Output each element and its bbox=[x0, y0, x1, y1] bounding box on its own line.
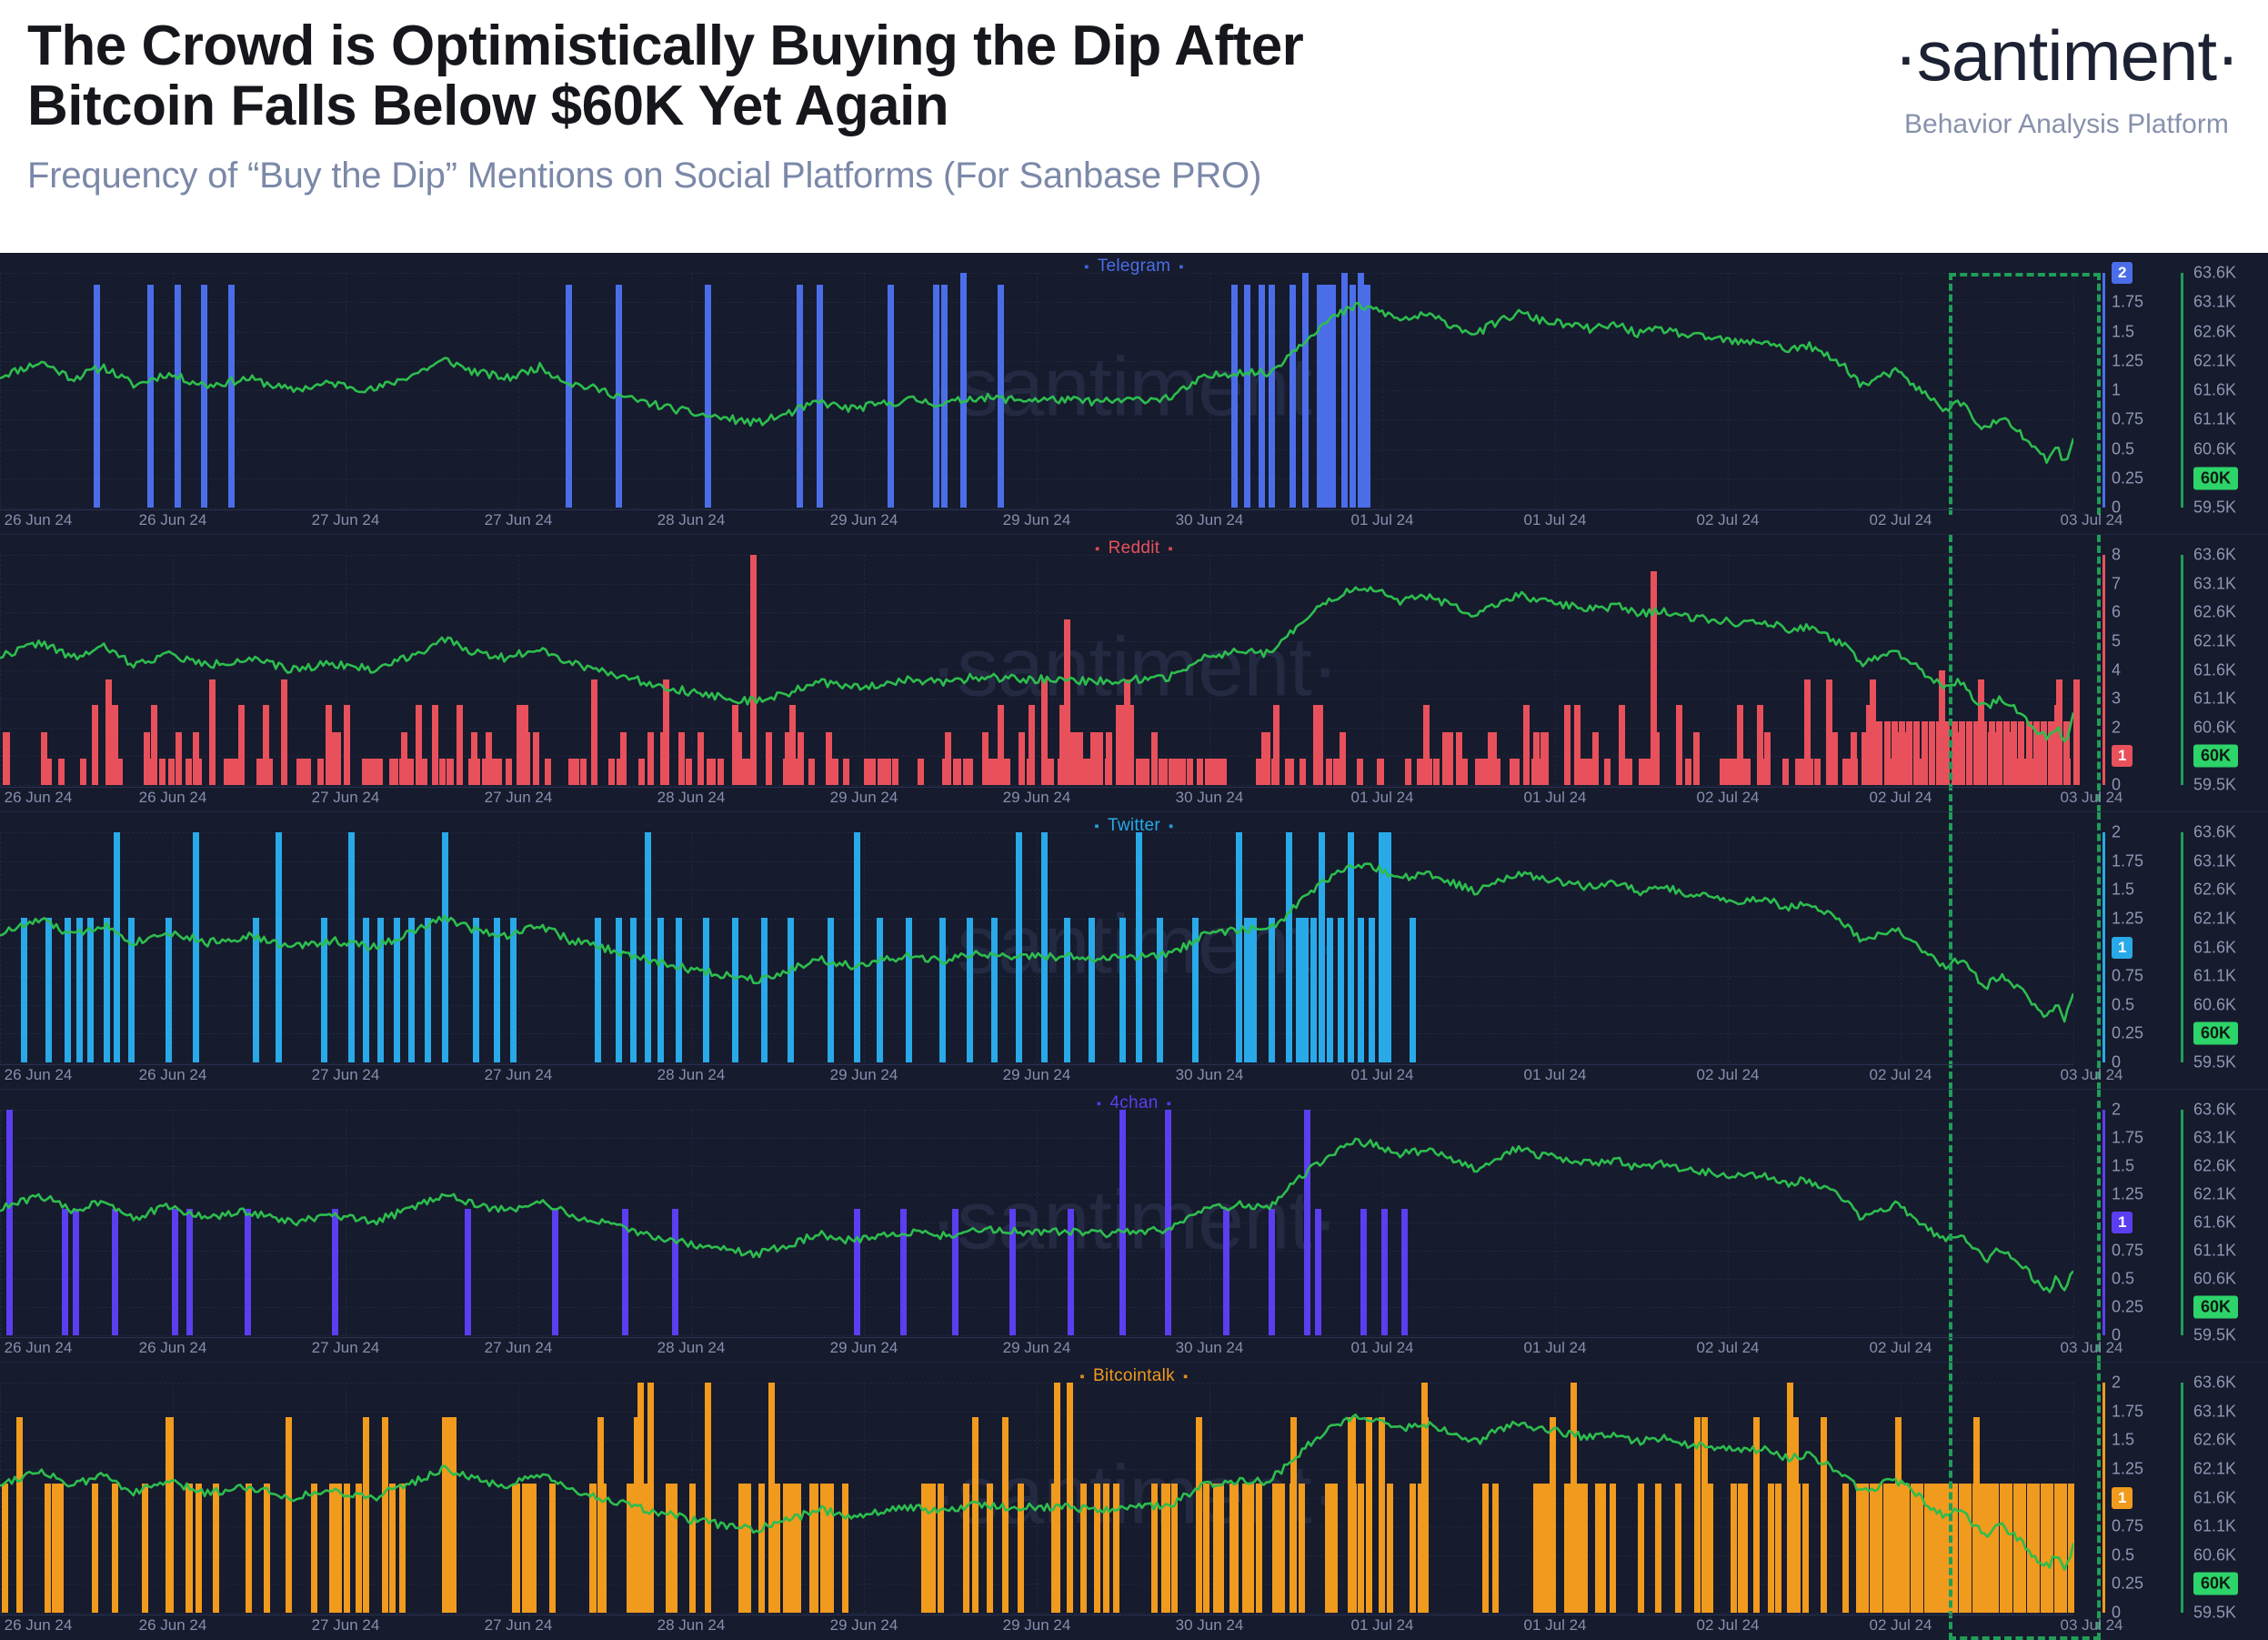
x-axis-tick: 02 Jul 24 bbox=[1697, 789, 1760, 807]
price-axis-tick: 63.6K bbox=[2193, 1101, 2236, 1120]
mentions-axis-tick: 1.5 bbox=[2112, 1431, 2134, 1450]
legend-label: 4chan bbox=[1109, 1093, 1158, 1112]
legend-dot-right-icon: ▪ bbox=[1183, 1369, 1189, 1384]
x-axis-tick: 30 Jun 24 bbox=[1176, 1616, 1244, 1635]
price-axis-tick: 61.1K bbox=[2193, 689, 2236, 709]
price-axis-tick: 61.1K bbox=[2193, 967, 2236, 986]
mentions-axis-tick: 0.25 bbox=[2112, 1024, 2143, 1043]
mentions-axis-tick: 0.5 bbox=[2112, 439, 2134, 458]
x-axis-tick: 28 Jun 24 bbox=[657, 1339, 726, 1357]
page-subtitle: Frequency of “Buy the Dip” Mentions on S… bbox=[27, 156, 2241, 196]
mentions-axis-tick: 8 bbox=[2112, 546, 2121, 565]
plot-area bbox=[0, 832, 2073, 1062]
x-axis-tick: 02 Jul 24 bbox=[1870, 1339, 1932, 1357]
x-axis-tick: 27 Jun 24 bbox=[312, 1616, 380, 1635]
price-axis-tick: 62.6K bbox=[2193, 1431, 2236, 1450]
btc-price-line bbox=[0, 555, 2073, 785]
mentions-axis-tick: 1.75 bbox=[2112, 293, 2143, 312]
x-axis-tick: 28 Jun 24 bbox=[657, 1616, 726, 1635]
mentions-axis-tick: 6 bbox=[2112, 603, 2121, 622]
price-axis-tick: 60.6K bbox=[2193, 1270, 2236, 1289]
x-axis: 26 Jun 2426 Jun 2427 Jun 2427 Jun 2428 J… bbox=[0, 1337, 2073, 1361]
legend-dot-left-icon: ▪ bbox=[1095, 541, 1100, 557]
x-axis-tick: 29 Jun 24 bbox=[830, 1616, 898, 1635]
x-axis-rule bbox=[0, 1337, 2073, 1338]
mentions-axis-tick: 0.5 bbox=[2112, 1545, 2134, 1565]
btc-price-line bbox=[0, 832, 2073, 1062]
x-axis-tick: 01 Jul 24 bbox=[1351, 789, 1414, 807]
legend-label: Twitter bbox=[1108, 816, 1160, 835]
price-axis-line bbox=[2181, 1110, 2183, 1335]
x-axis-rule bbox=[0, 1615, 2073, 1615]
x-axis-tick: 27 Jun 24 bbox=[485, 1616, 553, 1635]
mentions-axis-tick: 2 bbox=[2112, 718, 2121, 737]
x-axis-tick: 01 Jul 24 bbox=[1524, 1339, 1587, 1357]
mentions-axis-tick: 0 bbox=[2112, 1326, 2121, 1345]
x-axis-tick: 30 Jun 24 bbox=[1176, 789, 1244, 807]
legend-label: Bitcointalk bbox=[1093, 1366, 1175, 1385]
x-axis-tick: 02 Jul 24 bbox=[1870, 1066, 1932, 1084]
x-axis-tick: 29 Jun 24 bbox=[830, 1339, 898, 1357]
mentions-axis-tick: 1.75 bbox=[2112, 1129, 2143, 1148]
x-axis-tick: 28 Jun 24 bbox=[657, 789, 726, 807]
btc-price-line bbox=[0, 273, 2073, 508]
x-axis: 26 Jun 2426 Jun 2427 Jun 2427 Jun 2428 J… bbox=[0, 509, 2073, 533]
price-axis-tick: 62.6K bbox=[2193, 1157, 2236, 1176]
x-axis-tick: 26 Jun 24 bbox=[5, 1616, 73, 1635]
price-axis-tick: 63.6K bbox=[2193, 1373, 2236, 1393]
price-axis-tick: 63.6K bbox=[2193, 264, 2236, 283]
price-axis-tick: 62.1K bbox=[2193, 1185, 2236, 1204]
legend-bitcointalk: ▪Bitcointalk▪ bbox=[0, 1366, 2268, 1386]
legend-dot-right-icon: ▪ bbox=[1169, 819, 1174, 834]
mentions-axis-tick: 7 bbox=[2112, 574, 2121, 593]
x-axis-tick: 27 Jun 24 bbox=[485, 1339, 553, 1357]
x-axis-tick: 28 Jun 24 bbox=[657, 511, 726, 529]
x-axis-tick: 26 Jun 24 bbox=[139, 1066, 207, 1084]
mentions-axis-line bbox=[2102, 555, 2105, 785]
mentions-axis-tick: 0.5 bbox=[2112, 1270, 2134, 1289]
price-current-badge: 60K bbox=[2193, 467, 2238, 489]
price-axis-tick: 63.1K bbox=[2193, 851, 2236, 870]
btc-price-line bbox=[0, 1110, 2073, 1335]
x-axis-tick: 27 Jun 24 bbox=[312, 511, 380, 529]
x-axis-tick: 30 Jun 24 bbox=[1176, 1066, 1244, 1084]
chart-panel-reddit: ▪Reddit▪·santiment·01234567863.6K63.1K62… bbox=[0, 535, 2268, 812]
mentions-axis-line bbox=[2102, 1110, 2105, 1335]
x-axis-tick: 29 Jun 24 bbox=[1003, 511, 1071, 529]
x-axis-tick: 27 Jun 24 bbox=[312, 1339, 380, 1357]
price-axis-tick: 63.6K bbox=[2193, 823, 2236, 842]
x-axis-tick: 01 Jul 24 bbox=[1351, 511, 1414, 529]
price-axis-tick: 60.6K bbox=[2193, 718, 2236, 737]
legend-4chan: ▪4chan▪ bbox=[0, 1093, 2268, 1113]
price-axis-tick: 62.6K bbox=[2193, 603, 2236, 622]
brand-tagline: Behavior Analysis Platform bbox=[1894, 109, 2239, 140]
x-axis-tick: 26 Jun 24 bbox=[5, 1339, 73, 1357]
price-axis-tick: 61.6K bbox=[2193, 1488, 2236, 1507]
legend-dot-left-icon: ▪ bbox=[1094, 819, 1099, 834]
legend-dot-right-icon: ▪ bbox=[1179, 259, 1184, 275]
price-axis-tick: 62.1K bbox=[2193, 631, 2236, 650]
price-axis-tick: 59.5K bbox=[2193, 1053, 2236, 1072]
x-axis-tick: 02 Jul 24 bbox=[1870, 511, 1932, 529]
price-current-badge: 60K bbox=[2193, 1573, 2238, 1595]
plot-area bbox=[0, 273, 2073, 508]
x-axis-tick: 29 Jun 24 bbox=[1003, 789, 1071, 807]
header-banner: The Crowd is Optimistically Buying the D… bbox=[0, 0, 2268, 253]
x-axis-tick: 27 Jun 24 bbox=[312, 1066, 380, 1084]
x-axis-tick: 27 Jun 24 bbox=[485, 511, 553, 529]
x-axis-tick: 26 Jun 24 bbox=[139, 1616, 207, 1635]
mentions-axis-line bbox=[2102, 832, 2105, 1062]
plot-area bbox=[0, 1383, 2073, 1613]
legend-dot-right-icon: ▪ bbox=[1168, 541, 1173, 557]
legend-label: Reddit bbox=[1109, 538, 1160, 558]
plot-area bbox=[0, 1110, 2073, 1335]
legend-twitter: ▪Twitter▪ bbox=[0, 816, 2268, 836]
mentions-current-badge: 2 bbox=[2112, 262, 2133, 284]
mentions-axis-tick: 1.75 bbox=[2112, 1402, 2143, 1421]
mentions-axis-tick: 0 bbox=[2112, 1604, 2121, 1623]
price-axis-line bbox=[2181, 273, 2183, 508]
price-axis-tick: 60.6K bbox=[2193, 995, 2236, 1014]
chart-panel-twitter: ▪Twitter▪·santiment·00.250.50.7511.251.5… bbox=[0, 812, 2268, 1090]
price-axis-tick: 61.1K bbox=[2193, 1517, 2236, 1536]
x-axis-tick: 01 Jul 24 bbox=[1351, 1339, 1414, 1357]
btc-price-line bbox=[0, 1383, 2073, 1613]
mentions-axis-tick: 0.75 bbox=[2112, 1242, 2143, 1261]
legend-dot-left-icon: ▪ bbox=[1084, 259, 1089, 275]
x-axis-tick: 02 Jul 24 bbox=[1697, 1616, 1760, 1635]
mentions-axis-tick: 0.75 bbox=[2112, 967, 2143, 986]
x-axis-rule bbox=[0, 509, 2073, 510]
mentions-axis-tick: 1.5 bbox=[2112, 1157, 2134, 1176]
mentions-axis-line bbox=[2102, 273, 2105, 508]
x-axis: 26 Jun 2426 Jun 2427 Jun 2427 Jun 2428 J… bbox=[0, 787, 2073, 810]
price-axis-tick: 62.1K bbox=[2193, 351, 2236, 370]
chart-panel-bitcointalk: ▪Bitcointalk▪·santiment·00.250.50.7511.2… bbox=[0, 1363, 2268, 1640]
mentions-axis-tick: 0 bbox=[2112, 498, 2121, 518]
mentions-axis-tick: 0 bbox=[2112, 1053, 2121, 1072]
mentions-axis-tick: 4 bbox=[2112, 660, 2121, 679]
x-axis-tick: 27 Jun 24 bbox=[485, 789, 553, 807]
mentions-axis-tick: 1 bbox=[2112, 381, 2121, 400]
mentions-current-badge: 1 bbox=[2112, 1212, 2133, 1233]
x-axis: 26 Jun 2426 Jun 2427 Jun 2427 Jun 2428 J… bbox=[0, 1615, 2073, 1638]
x-axis-tick: 28 Jun 24 bbox=[657, 1066, 726, 1084]
mentions-axis-tick: 2 bbox=[2112, 823, 2121, 842]
mentions-axis-tick: 1.25 bbox=[2112, 351, 2143, 370]
price-axis-tick: 62.1K bbox=[2193, 909, 2236, 928]
price-current-badge: 60K bbox=[2193, 745, 2238, 768]
x-axis-rule bbox=[0, 787, 2073, 788]
price-axis-tick: 63.1K bbox=[2193, 574, 2236, 593]
x-axis-tick: 02 Jul 24 bbox=[1870, 789, 1932, 807]
price-axis-tick: 63.1K bbox=[2193, 293, 2236, 312]
mentions-axis-tick: 2 bbox=[2112, 1373, 2121, 1393]
mentions-axis-tick: 2 bbox=[2112, 1101, 2121, 1120]
mentions-axis-tick: 0.75 bbox=[2112, 1517, 2143, 1536]
price-axis-tick: 61.6K bbox=[2193, 938, 2236, 957]
price-axis-tick: 62.1K bbox=[2193, 1459, 2236, 1478]
x-axis-tick: 02 Jul 24 bbox=[1870, 1616, 1932, 1635]
mentions-current-badge: 1 bbox=[2112, 1487, 2133, 1509]
mentions-axis-tick: 1.25 bbox=[2112, 909, 2143, 928]
mentions-axis-tick: 0.75 bbox=[2112, 410, 2143, 429]
x-axis-tick: 26 Jun 24 bbox=[5, 789, 73, 807]
x-axis-tick: 26 Jun 24 bbox=[139, 1339, 207, 1357]
x-axis-tick: 02 Jul 24 bbox=[1697, 1066, 1760, 1084]
price-axis-tick: 59.5K bbox=[2193, 1326, 2236, 1345]
legend-dot-left-icon: ▪ bbox=[1097, 1096, 1102, 1112]
x-axis-tick: 01 Jul 24 bbox=[1524, 1616, 1587, 1635]
x-axis-tick: 01 Jul 24 bbox=[1351, 1616, 1414, 1635]
price-axis-tick: 63.1K bbox=[2193, 1402, 2236, 1421]
price-axis-tick: 61.6K bbox=[2193, 381, 2236, 400]
price-axis-tick: 62.6K bbox=[2193, 880, 2236, 900]
x-axis-tick: 02 Jul 24 bbox=[1697, 511, 1760, 529]
price-axis-tick: 61.1K bbox=[2193, 1242, 2236, 1261]
legend-telegram: ▪Telegram▪ bbox=[0, 257, 2268, 277]
plot-area bbox=[0, 555, 2073, 785]
price-axis-tick: 61.6K bbox=[2193, 1213, 2236, 1233]
price-axis-tick: 63.6K bbox=[2193, 546, 2236, 565]
x-axis-tick: 26 Jun 24 bbox=[5, 1066, 73, 1084]
price-axis-line bbox=[2181, 555, 2183, 785]
mentions-axis-tick: 3 bbox=[2112, 689, 2121, 709]
x-axis-tick: 26 Jun 24 bbox=[139, 511, 207, 529]
brand-logo: ·santiment· Behavior Analysis Platform bbox=[1894, 20, 2239, 140]
mentions-axis-tick: 1.5 bbox=[2112, 880, 2134, 900]
legend-reddit: ▪Reddit▪ bbox=[0, 538, 2268, 558]
price-axis-tick: 63.1K bbox=[2193, 1129, 2236, 1148]
mentions-axis-tick: 1.75 bbox=[2112, 851, 2143, 870]
x-axis-tick: 29 Jun 24 bbox=[830, 511, 898, 529]
x-axis-tick: 30 Jun 24 bbox=[1176, 511, 1244, 529]
price-axis-tick: 61.6K bbox=[2193, 660, 2236, 679]
mentions-axis-tick: 0.25 bbox=[2112, 1298, 2143, 1317]
x-axis-tick: 29 Jun 24 bbox=[830, 789, 898, 807]
price-axis-tick: 60.6K bbox=[2193, 439, 2236, 458]
x-axis-tick: 26 Jun 24 bbox=[5, 511, 73, 529]
mentions-axis-tick: 0.25 bbox=[2112, 1575, 2143, 1594]
mentions-axis-tick: 1.5 bbox=[2112, 322, 2134, 341]
x-axis-tick: 01 Jul 24 bbox=[1524, 1066, 1587, 1084]
price-axis-tick: 60.6K bbox=[2193, 1545, 2236, 1565]
mentions-axis-tick: 5 bbox=[2112, 631, 2121, 650]
x-axis-tick: 02 Jul 24 bbox=[1697, 1339, 1760, 1357]
x-axis-rule bbox=[0, 1064, 2073, 1065]
price-axis-line bbox=[2181, 832, 2183, 1062]
x-axis-tick: 29 Jun 24 bbox=[1003, 1616, 1071, 1635]
price-axis-tick: 62.6K bbox=[2193, 322, 2236, 341]
mentions-axis-tick: 0 bbox=[2112, 776, 2121, 795]
mentions-current-badge: 1 bbox=[2112, 745, 2133, 767]
x-axis-tick: 01 Jul 24 bbox=[1351, 1066, 1414, 1084]
mentions-axis-tick: 0.25 bbox=[2112, 468, 2143, 488]
x-axis: 26 Jun 2426 Jun 2427 Jun 2427 Jun 2428 J… bbox=[0, 1064, 2073, 1088]
price-axis-tick: 59.5K bbox=[2193, 776, 2236, 795]
price-current-badge: 60K bbox=[2193, 1022, 2238, 1045]
x-axis-tick: 29 Jun 24 bbox=[1003, 1339, 1071, 1357]
x-axis-tick: 27 Jun 24 bbox=[312, 789, 380, 807]
price-axis-tick: 59.5K bbox=[2193, 1604, 2236, 1623]
legend-label: Telegram bbox=[1098, 257, 1171, 276]
mentions-axis-tick: 0.5 bbox=[2112, 995, 2134, 1014]
legend-dot-left-icon: ▪ bbox=[1079, 1369, 1085, 1384]
price-axis-line bbox=[2181, 1383, 2183, 1613]
x-axis-tick: 29 Jun 24 bbox=[1003, 1066, 1071, 1084]
x-axis-tick: 01 Jul 24 bbox=[1524, 511, 1587, 529]
x-axis-tick: 29 Jun 24 bbox=[830, 1066, 898, 1084]
mentions-axis-tick: 1.25 bbox=[2112, 1459, 2143, 1478]
price-axis-tick: 61.1K bbox=[2193, 410, 2236, 429]
chart-stack: ▪Telegram▪·santiment·00.250.50.7511.251.… bbox=[0, 253, 2268, 1640]
chart-panel-4chan: ▪4chan▪·santiment·00.250.50.7511.251.51.… bbox=[0, 1090, 2268, 1363]
mentions-axis-tick: 1.25 bbox=[2112, 1185, 2143, 1204]
x-axis-tick: 01 Jul 24 bbox=[1524, 789, 1587, 807]
x-axis-tick: 26 Jun 24 bbox=[139, 789, 207, 807]
mentions-axis-line bbox=[2102, 1383, 2105, 1613]
price-axis-tick: 59.5K bbox=[2193, 498, 2236, 518]
legend-dot-right-icon: ▪ bbox=[1167, 1096, 1172, 1112]
price-current-badge: 60K bbox=[2193, 1296, 2238, 1319]
mentions-current-badge: 1 bbox=[2112, 937, 2133, 959]
x-axis-tick: 27 Jun 24 bbox=[485, 1066, 553, 1084]
brand-wordmark: ·santiment· bbox=[1894, 20, 2239, 91]
x-axis-tick: 30 Jun 24 bbox=[1176, 1339, 1244, 1357]
chart-panel-telegram: ▪Telegram▪·santiment·00.250.50.7511.251.… bbox=[0, 253, 2268, 535]
bar bbox=[2073, 679, 2080, 785]
